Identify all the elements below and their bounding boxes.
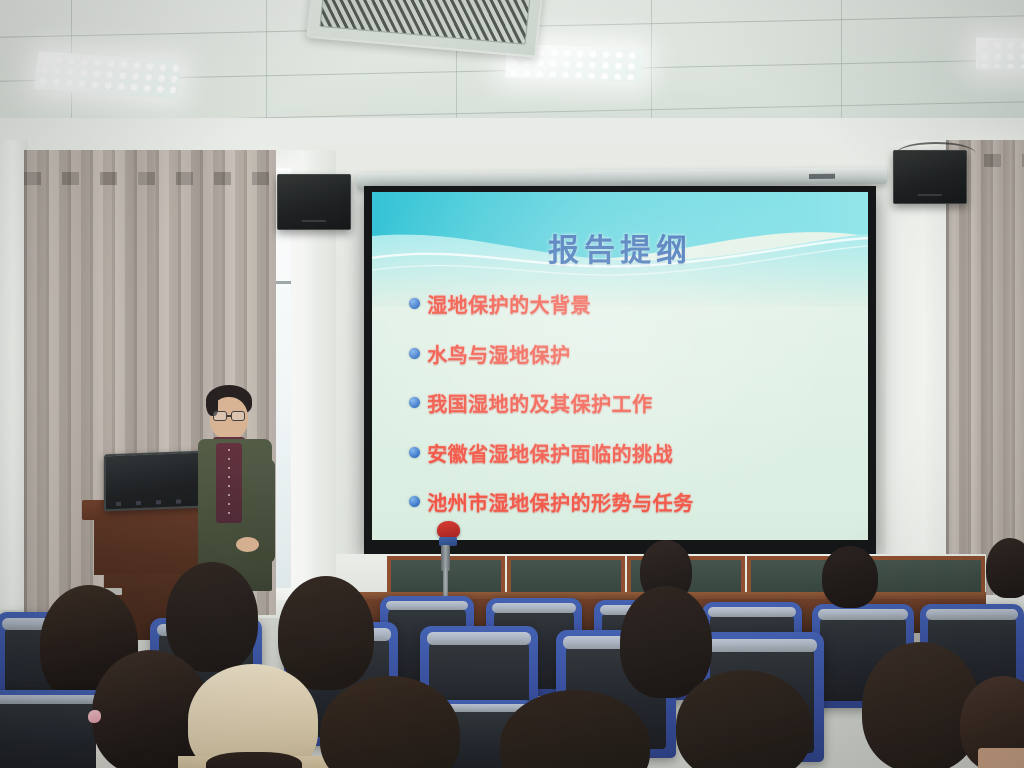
seat-top-bar — [386, 601, 469, 611]
audience-neck — [978, 748, 1024, 768]
audience-hair — [822, 546, 878, 608]
wall-speaker-right — [893, 150, 967, 204]
curtain-right — [946, 140, 1024, 595]
audience-hair — [206, 752, 302, 768]
lecture-hall-photo: 报告提纲 湿地保护的大背景 水鸟与湿地保护 我国湿地的及其保护工作 安徽省湿地保… — [0, 0, 1024, 768]
presenter-hand — [236, 537, 259, 552]
slide-title: 报告提纲 — [372, 225, 868, 270]
presenter-glasses — [213, 411, 245, 421]
projection-screen-frame: 报告提纲 湿地保护的大背景 水鸟与湿地保护 我国湿地的及其保护工作 安徽省湿地保… — [364, 186, 876, 554]
bullet-dot-icon — [409, 447, 420, 458]
monitor-bezel-ports — [116, 499, 189, 506]
hair-ribbon — [88, 710, 101, 723]
bullet-text: 安徽省湿地保护面临的挑战 — [427, 438, 673, 467]
bullet-dot-icon — [409, 298, 420, 309]
audience-member-11 — [500, 690, 650, 768]
bullet-dot-icon — [409, 348, 420, 359]
wall-speaker-left — [277, 174, 351, 230]
seat-top-bar — [492, 603, 577, 613]
slide-bullet-item: 水鸟与湿地保护 — [409, 339, 853, 368]
audience-member-12 — [676, 670, 812, 768]
audience-hair — [676, 670, 812, 768]
housing-label — [809, 174, 835, 179]
bullet-text: 我国湿地的及其保护工作 — [427, 388, 653, 417]
seat-top-bar — [708, 607, 796, 617]
slide-bullet-item: 池州市湿地保护的形势与任务 — [409, 487, 853, 516]
audience-member-6 — [822, 546, 878, 608]
light-diffuser — [978, 39, 1024, 68]
glasses-lens-left — [213, 411, 227, 421]
bullet-text: 水鸟与湿地保护 — [427, 339, 571, 368]
bullet-dot-icon — [409, 397, 420, 408]
seat-top-bar — [427, 632, 531, 645]
presenter-shirt-front — [216, 443, 242, 523]
seat-top-bar — [707, 639, 816, 652]
curtain-tab-row — [24, 172, 276, 185]
ceiling-light-right — [976, 37, 1024, 70]
slide-bullet-item: 安徽省湿地保护面临的挑战 — [409, 438, 853, 467]
slide-bullet-item: 湿地保护的大背景 — [409, 289, 853, 318]
audience-hair — [986, 538, 1024, 598]
audience-hair — [320, 676, 460, 768]
slide-bullet-list: 湿地保护的大背景 水鸟与湿地保护 我国湿地的及其保护工作 安徽省湿地保护面临的挑… — [409, 289, 853, 536]
audience-member-10 — [320, 676, 460, 768]
glasses-lens-right — [231, 411, 245, 421]
rail-panel — [507, 556, 625, 596]
audience-member-7 — [986, 538, 1024, 598]
bullet-dot-icon — [409, 496, 420, 507]
seat-top-bar — [926, 609, 1018, 619]
slide-bullet-item: 我国湿地的及其保护工作 — [409, 388, 853, 417]
ac-grille — [319, 0, 530, 45]
audience-member-4-hair — [206, 752, 302, 768]
seat-top-bar — [818, 609, 908, 619]
bullet-text: 湿地保护的大背景 — [427, 289, 591, 318]
bullet-text: 池州市湿地保护的形势与任务 — [427, 487, 694, 516]
presentation-slide: 报告提纲 湿地保护的大背景 水鸟与湿地保护 我国湿地的及其保护工作 安徽省湿地保… — [372, 192, 868, 540]
rail-panel — [867, 556, 985, 596]
light-diffuser — [36, 53, 179, 96]
audience-hair — [500, 690, 650, 768]
